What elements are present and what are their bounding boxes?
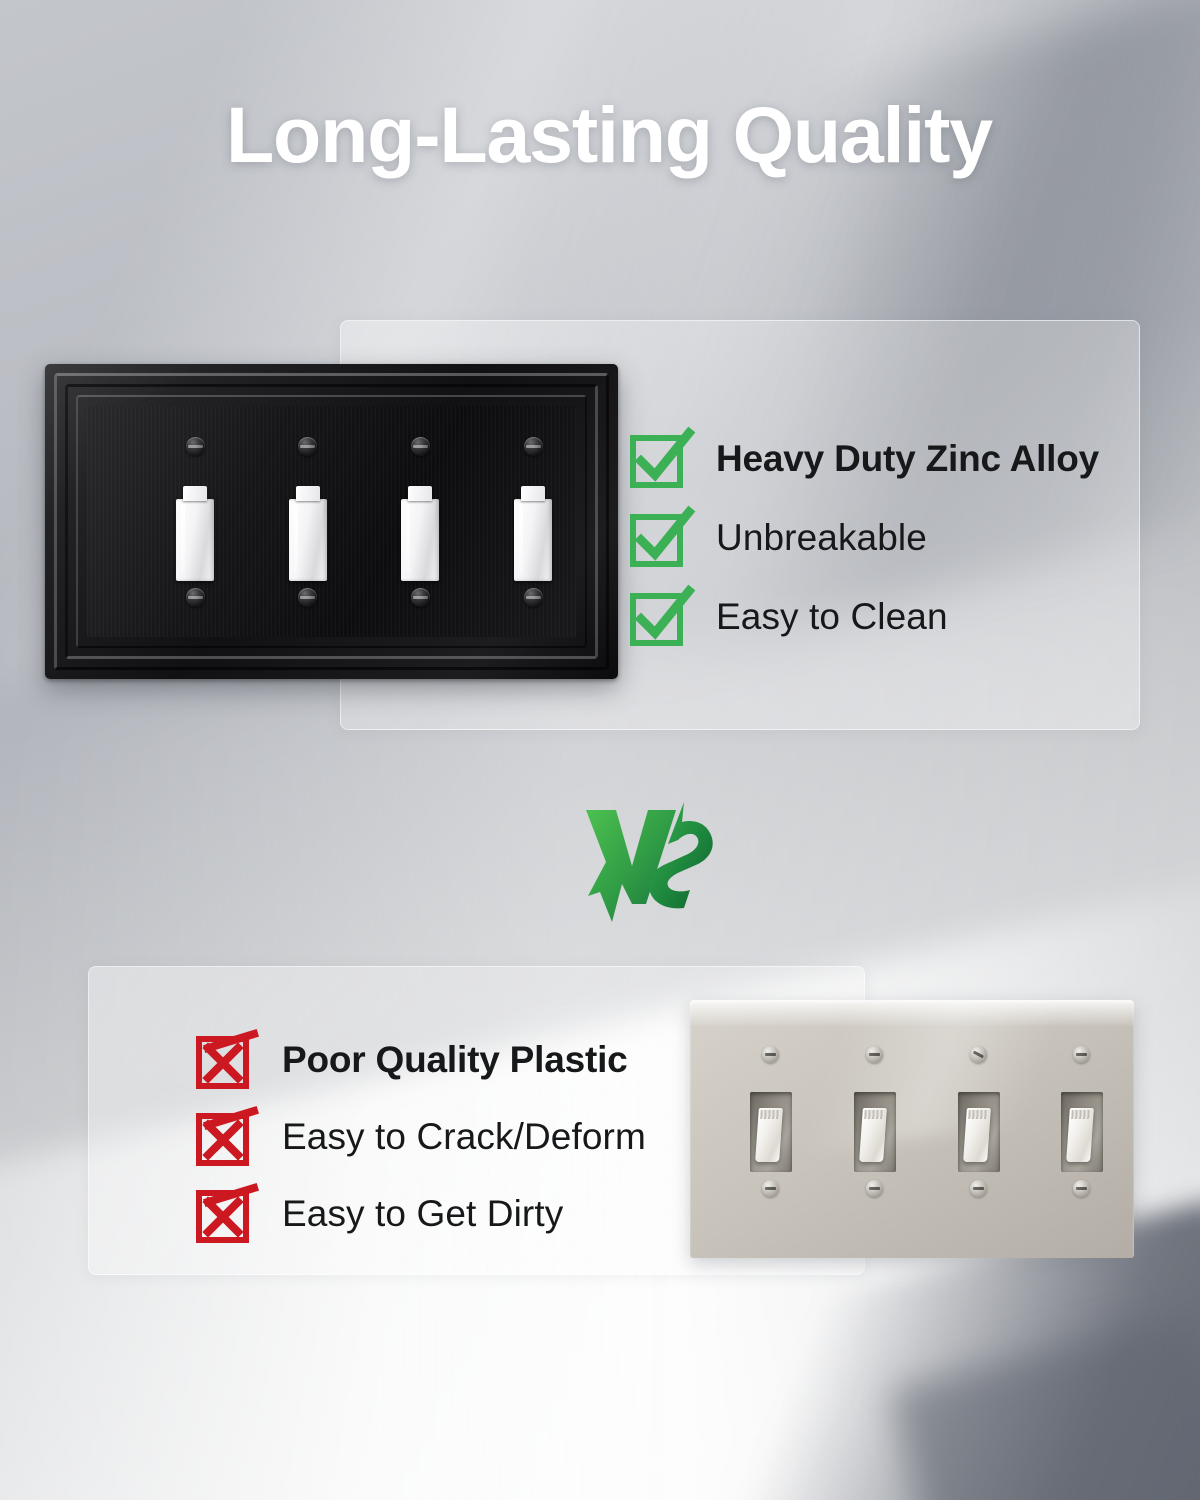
check-square-icon bbox=[632, 591, 684, 643]
list-item: Poor Quality Plastic bbox=[198, 1022, 646, 1098]
plate-screw bbox=[524, 437, 543, 456]
list-item: Heavy Duty Zinc Alloy bbox=[632, 420, 1099, 498]
plate-screw bbox=[762, 1046, 779, 1063]
plate-screw bbox=[411, 437, 430, 456]
vs-badge bbox=[572, 800, 704, 928]
toggle-switch bbox=[289, 499, 327, 581]
list-item: Unbreakable bbox=[632, 499, 1099, 577]
plate-screw bbox=[1073, 1180, 1090, 1197]
plate-screw bbox=[298, 588, 317, 607]
plate-screw bbox=[186, 588, 205, 607]
plate-screw bbox=[970, 1180, 987, 1197]
plate-screw bbox=[186, 437, 205, 456]
list-item: Easy to Crack/Deform bbox=[198, 1099, 646, 1175]
infographic-canvas: Long-Lasting Quality Heavy Du bbox=[0, 0, 1200, 1500]
cross-square-icon bbox=[198, 1034, 250, 1086]
toggle-switch bbox=[859, 1108, 887, 1162]
plate-screw bbox=[866, 1180, 883, 1197]
toggle-switch bbox=[963, 1108, 991, 1162]
plate-screw bbox=[298, 437, 317, 456]
check-square-icon bbox=[632, 512, 684, 564]
plate-screw bbox=[524, 588, 543, 607]
plate-screw bbox=[762, 1180, 779, 1197]
list-item-label: Easy to Get Dirty bbox=[282, 1193, 563, 1235]
toggle-slot bbox=[854, 1092, 896, 1172]
toggle-slot bbox=[1061, 1092, 1103, 1172]
toggle-switch bbox=[401, 499, 439, 581]
list-item-label: Easy to Crack/Deform bbox=[282, 1116, 646, 1158]
toggle-switch bbox=[514, 499, 552, 581]
plate-face bbox=[87, 406, 576, 637]
pros-list: Heavy Duty Zinc Alloy Unbreakable Easy t… bbox=[632, 420, 1099, 656]
toggle-slot bbox=[958, 1092, 1000, 1172]
black-metal-wall-plate-image bbox=[45, 364, 618, 679]
plate-screw bbox=[970, 1046, 987, 1063]
beige-plastic-wall-plate-image bbox=[690, 1000, 1134, 1258]
cons-list: Poor Quality Plastic Easy to Crack/Defor… bbox=[198, 1022, 646, 1252]
list-item-label: Heavy Duty Zinc Alloy bbox=[716, 438, 1099, 480]
cross-square-icon bbox=[198, 1111, 250, 1163]
list-item: Easy to Get Dirty bbox=[198, 1176, 646, 1252]
page-title: Long-Lasting Quality bbox=[226, 95, 986, 174]
plate-screw bbox=[1073, 1046, 1090, 1063]
cross-square-icon bbox=[198, 1188, 250, 1240]
toggle-slot bbox=[750, 1092, 792, 1172]
list-item: Easy to Clean bbox=[632, 578, 1099, 656]
plate-screw bbox=[866, 1046, 883, 1063]
list-item-label: Easy to Clean bbox=[716, 596, 948, 638]
toggle-switch bbox=[176, 499, 214, 581]
list-item-label: Unbreakable bbox=[716, 517, 927, 559]
toggle-switch bbox=[755, 1108, 783, 1162]
plate-screw bbox=[411, 588, 430, 607]
list-item-label: Poor Quality Plastic bbox=[282, 1039, 628, 1081]
toggle-switch bbox=[1066, 1108, 1094, 1162]
check-square-icon bbox=[632, 433, 684, 485]
